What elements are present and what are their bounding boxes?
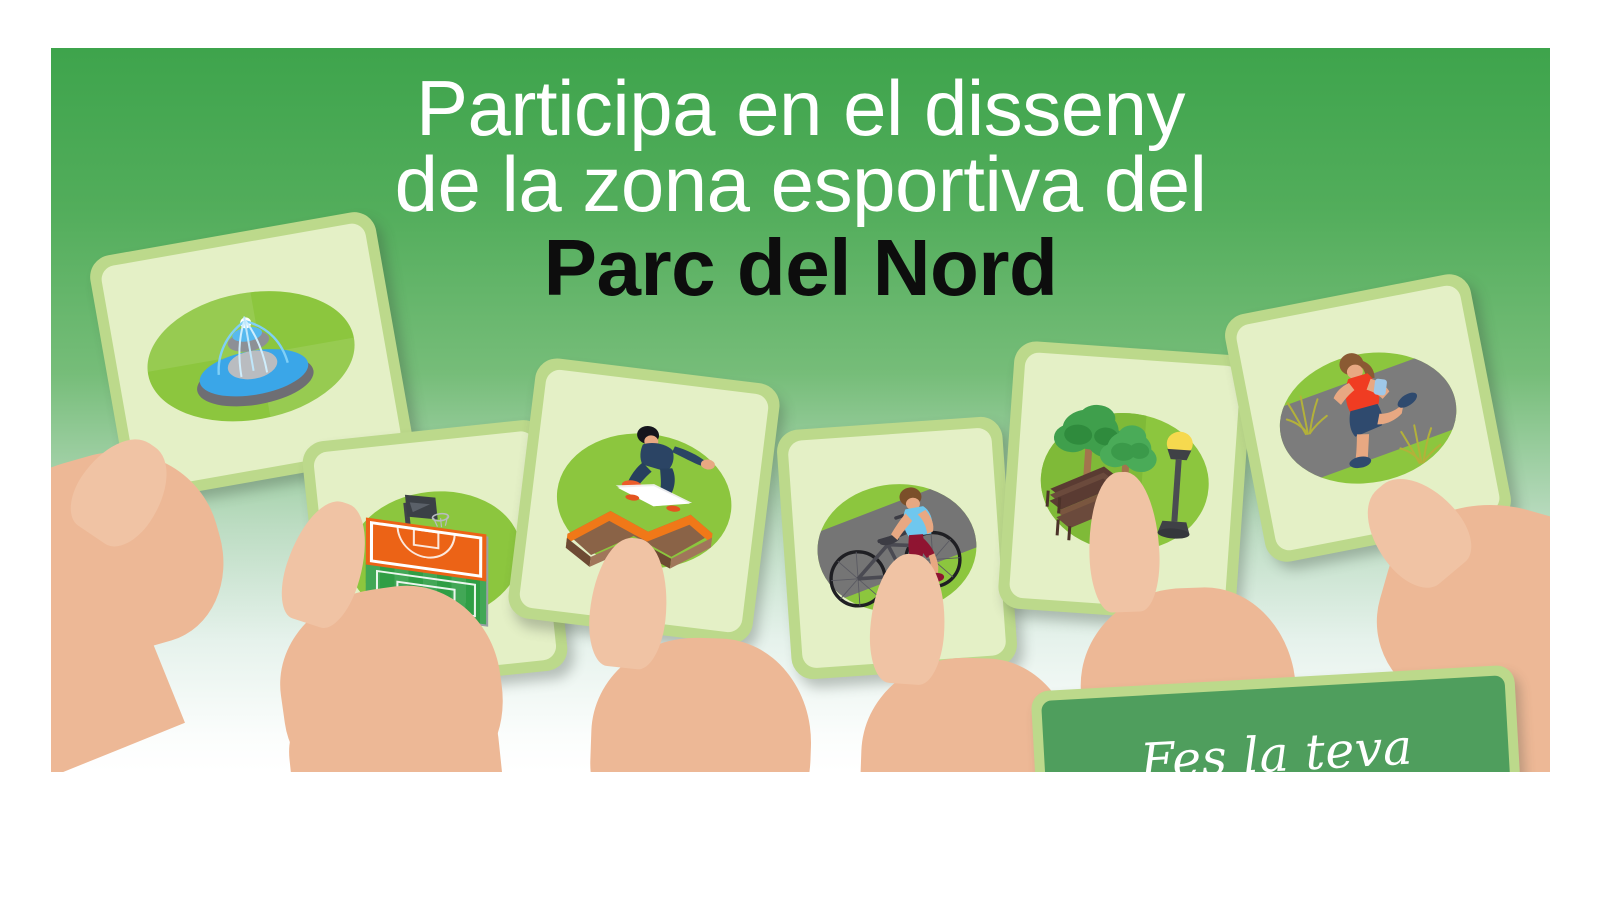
poster-canvas: Participa en el disseny de la zona espor… (0, 0, 1600, 900)
footer: Ajuntament de Sabadell Hi col·labora: Di… (0, 772, 1600, 900)
headline-line-2: de la zona esportiva del (51, 146, 1550, 222)
hand-pointing-skate (551, 558, 851, 772)
hand-pointing-courts (251, 518, 551, 772)
banner: Participa en el disseny de la zona espor… (51, 48, 1550, 772)
headline-line-1: Participa en el disseny (51, 70, 1550, 146)
